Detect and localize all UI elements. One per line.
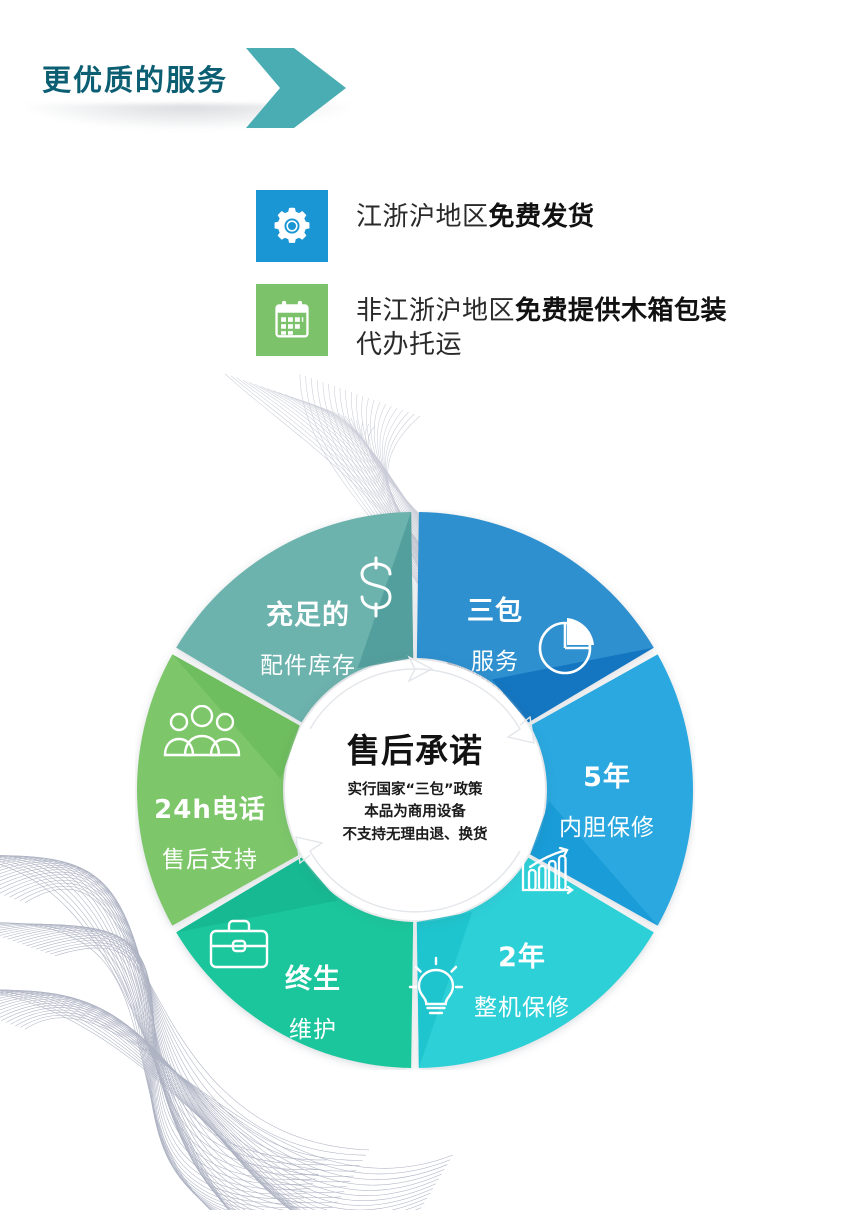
header-banner: 更优质的服务 — [0, 18, 860, 138]
feature-text-shipping: 江浙沪地区免费发货 — [356, 190, 595, 234]
feature-text-plain: 非江浙沪地区 — [356, 296, 515, 326]
infographic-page: 更优质的服务 江浙沪地区免费发货 — [0, 0, 860, 1210]
feature-text-bold: 免费提供木箱包装 — [515, 296, 727, 326]
hub-title: 售后承诺 — [347, 734, 483, 767]
feature-list: 江浙沪地区免费发货 — [256, 190, 856, 385]
feature-text-packaging: 非江浙沪地区免费提供木箱包装 代办托运 — [356, 284, 727, 363]
feature-text-bold: 免费发货 — [489, 202, 595, 232]
hub-subtitle: 实行国家“三包”政策 本品为商用设备 不支持无理由退、换货 — [343, 779, 488, 846]
feature-item-packaging: 非江浙沪地区免费提供木箱包装 代办托运 — [256, 284, 856, 363]
feature-text-plain: 江浙沪地区 — [356, 202, 489, 232]
feature-item-shipping: 江浙沪地区免费发货 — [256, 190, 856, 262]
donut-center-hub: 售后承诺 实行国家“三包”政策 本品为商用设备 不支持无理由退、换货 — [285, 660, 545, 920]
feature-text-tail: 代办托运 — [356, 330, 462, 360]
gear-icon — [256, 190, 328, 262]
calendar-icon — [256, 284, 328, 356]
page-title: 更优质的服务 — [42, 66, 228, 95]
chevron-right-arrow-icon — [246, 48, 346, 128]
